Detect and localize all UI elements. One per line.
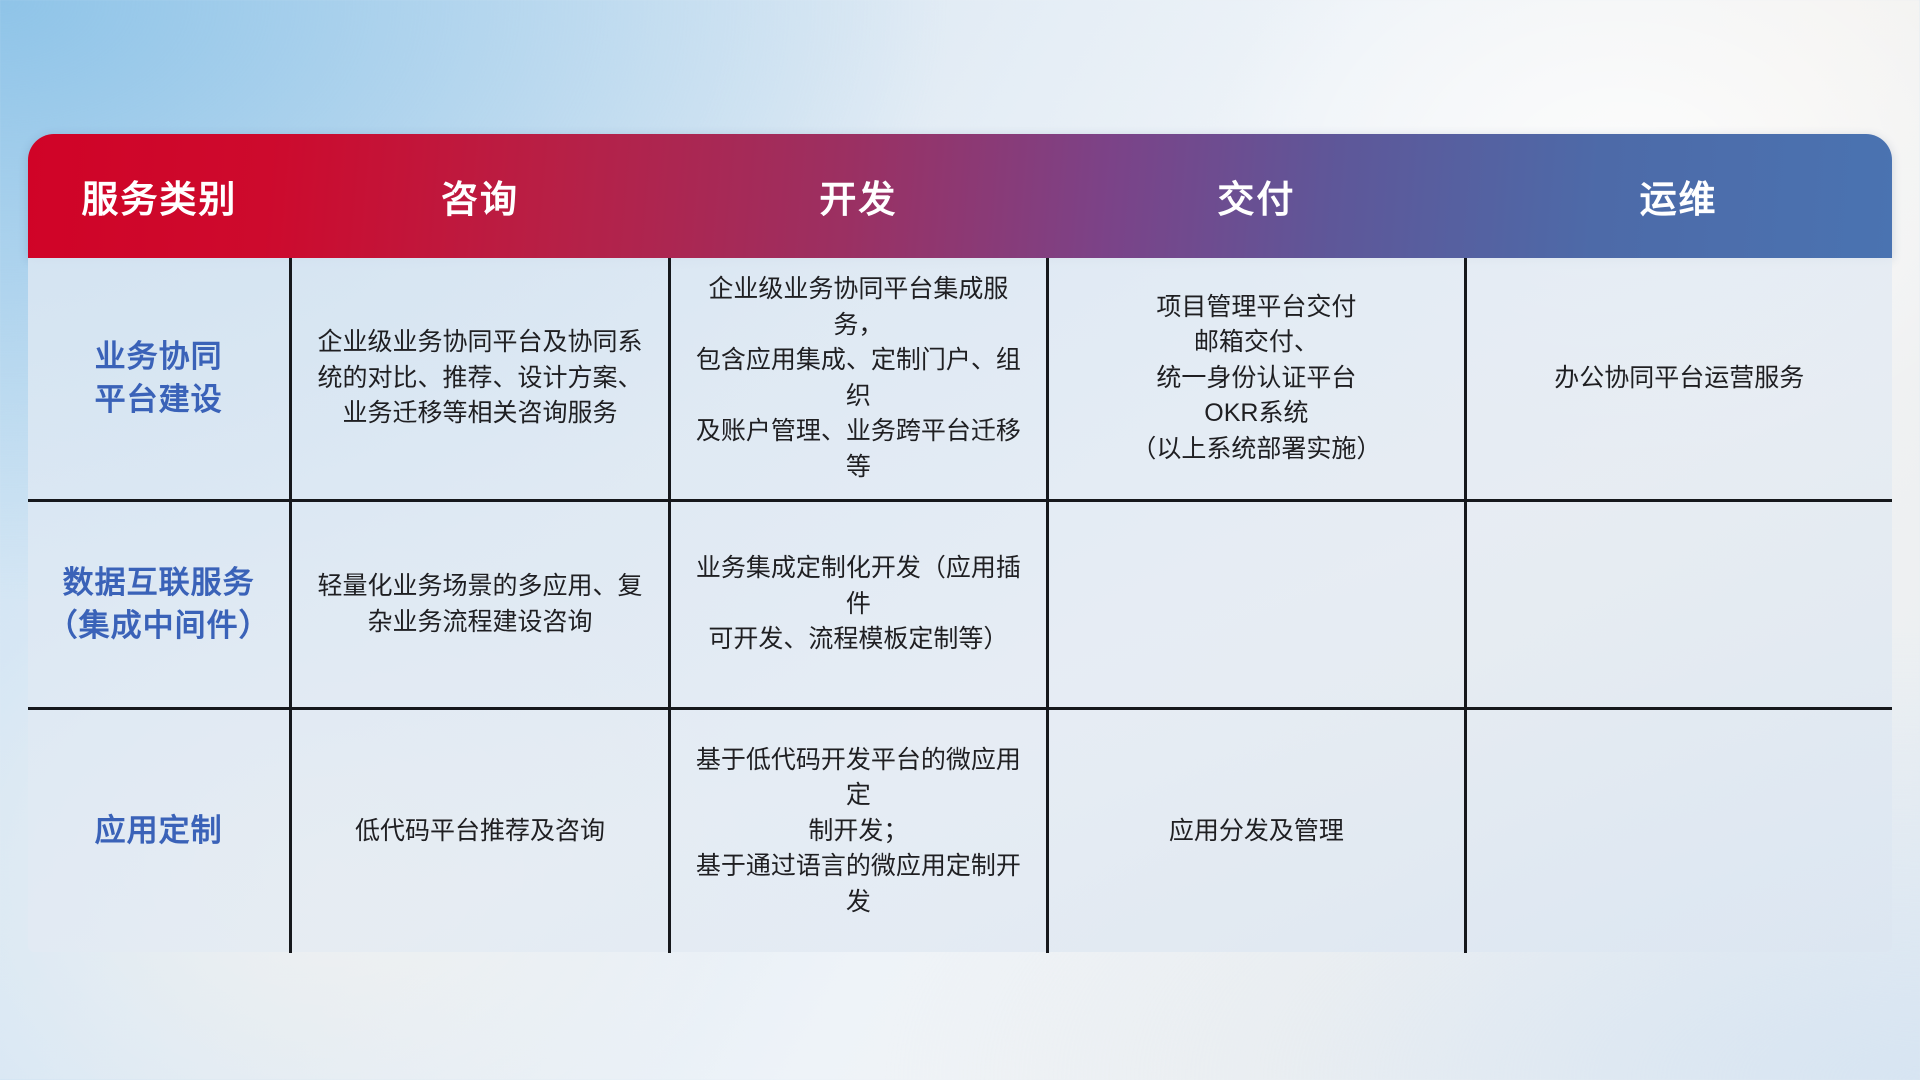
cell-row3-consulting: 低代码平台推荐及咨询 <box>291 709 669 953</box>
cell-row2-operations <box>1465 501 1892 709</box>
cell-row2-delivery <box>1048 501 1466 709</box>
table-body: 业务协同 平台建设 企业级业务协同平台及协同系 统的对比、推荐、设计方案、 业务… <box>28 258 1892 953</box>
cell-row1-delivery: 项目管理平台交付 邮箱交付、 统一身份认证平台 OKR系统 （以上系统部署实施） <box>1048 258 1466 501</box>
row-label-application-customization: 应用定制 <box>28 709 291 953</box>
table-row: 应用定制 低代码平台推荐及咨询 基于低代码开发平台的微应用定 制开发； 基于通过… <box>28 709 1892 953</box>
cell-row2-consulting: 轻量化业务场景的多应用、复 杂业务流程建设咨询 <box>291 501 669 709</box>
row-label-data-interconnect-service: 数据互联服务 （集成中间件） <box>28 501 291 709</box>
cell-row2-development: 业务集成定制化开发（应用插件 可开发、流程模板定制等） <box>669 501 1047 709</box>
column-header-operations[interactable]: 运维 <box>1465 134 1892 258</box>
cell-row3-operations <box>1465 709 1892 953</box>
column-header-development[interactable]: 开发 <box>669 134 1047 258</box>
column-header-consulting[interactable]: 咨询 <box>291 134 669 258</box>
header-row: 服务类别 咨询 开发 交付 运维 <box>28 134 1892 258</box>
cell-row3-delivery: 应用分发及管理 <box>1048 709 1466 953</box>
table-row: 业务协同 平台建设 企业级业务协同平台及协同系 统的对比、推荐、设计方案、 业务… <box>28 258 1892 501</box>
row-label-business-collaboration-platform: 业务协同 平台建设 <box>28 258 291 501</box>
service-matrix-table: 服务类别 咨询 开发 交付 运维 业务协同 平台建设 企业级业务协同平台及协同系… <box>28 134 1892 953</box>
column-header-service-category[interactable]: 服务类别 <box>28 134 291 258</box>
cell-row3-development: 基于低代码开发平台的微应用定 制开发； 基于通过语言的微应用定制开发 <box>669 709 1047 953</box>
cell-row1-development: 企业级业务协同平台集成服务， 包含应用集成、定制门户、组织 及账户管理、业务跨平… <box>669 258 1047 501</box>
cell-row1-consulting: 企业级业务协同平台及协同系 统的对比、推荐、设计方案、 业务迁移等相关咨询服务 <box>291 258 669 501</box>
service-matrix-table-wrapper: 服务类别 咨询 开发 交付 运维 业务协同 平台建设 企业级业务协同平台及协同系… <box>28 134 1892 952</box>
table-head: 服务类别 咨询 开发 交付 运维 <box>28 134 1892 258</box>
column-header-delivery[interactable]: 交付 <box>1048 134 1466 258</box>
cell-row1-operations: 办公协同平台运营服务 <box>1465 258 1892 501</box>
table-row: 数据互联服务 （集成中间件） 轻量化业务场景的多应用、复 杂业务流程建设咨询 业… <box>28 501 1892 709</box>
